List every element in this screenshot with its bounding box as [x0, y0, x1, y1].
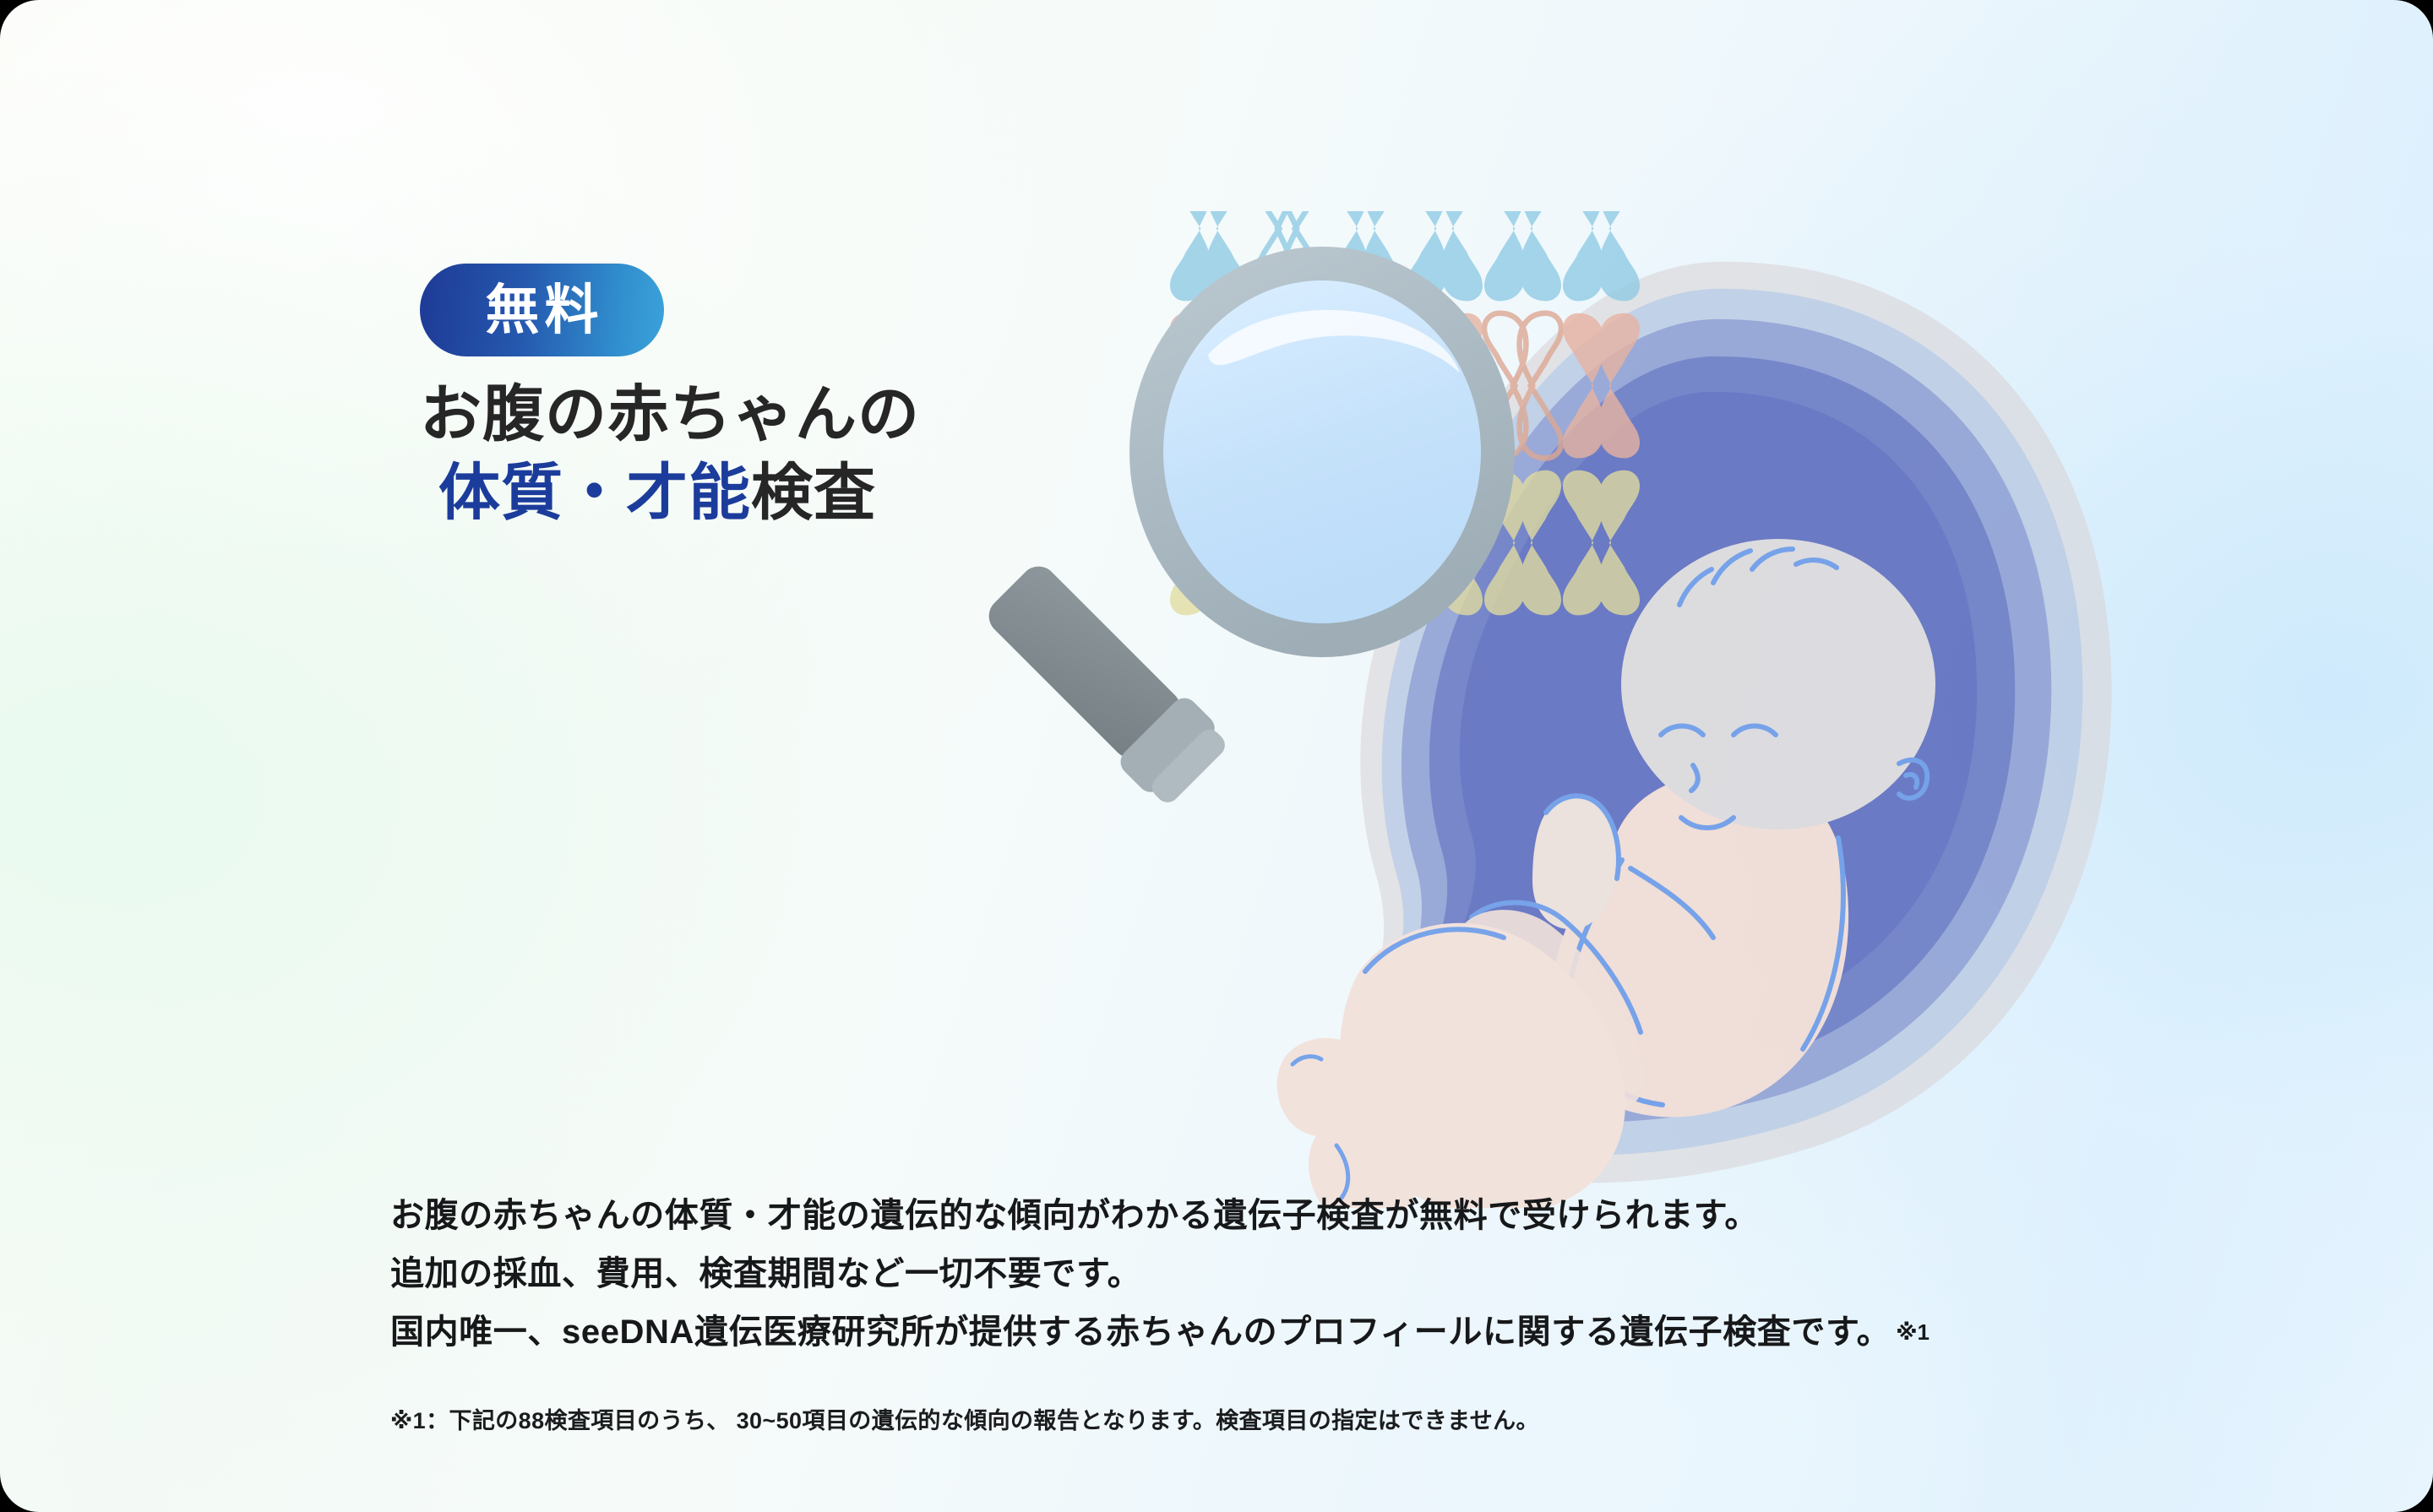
- body-line-3: 国内唯一、seeDNA遺伝医療研究所が提供する赤ちゃんのプロフィールに関する遺伝…: [390, 1303, 2190, 1362]
- womb-layer-3: [1391, 319, 2051, 1122]
- womb-layer-2: [1369, 289, 2083, 1155]
- baby-foot-1: [1277, 1038, 1378, 1137]
- body-line-3-text: 国内唯一、seeDNA遺伝医療研究所が提供する赤ちゃんのプロフィールに関する遺伝…: [390, 1313, 1891, 1351]
- headline-line-1: お腹の赤ちゃんの: [420, 375, 1062, 454]
- body-copy: お腹の赤ちゃんの体質・才能の遺伝的な傾向がわかる遺伝子検査が無料で受けられます。…: [390, 1187, 2190, 1361]
- headline-accent: 体質・才能: [438, 459, 751, 527]
- baby-torso: [1550, 772, 1848, 1117]
- body-line-1: お腹の赤ちゃんの体質・才能の遺伝的な傾向がわかる遺伝子検査が無料で受けられます。: [390, 1187, 2190, 1245]
- baby-figure: [1277, 539, 1935, 1208]
- page-title: お腹の赤ちゃんの 体質・才能検査: [420, 375, 1062, 533]
- magnifier-handle: [982, 559, 1189, 766]
- body-line-2: 追加の採血、費用、検査期間など一切不要です。: [390, 1245, 2190, 1303]
- headline-block: 無料 お腹の赤ちゃんの 体質・才能検査: [420, 264, 1062, 533]
- baby-forearm: [1472, 902, 1641, 1032]
- magnifier-glare: [1208, 310, 1460, 373]
- baby-arm: [1532, 796, 1619, 929]
- baby-legs: [1340, 923, 1625, 1208]
- footnote: ※1：下記の88検査項目のうち、 30~50項目の遺伝的な傾向の報告となります。…: [390, 1402, 1539, 1435]
- chromosome-row-yellow: [1170, 470, 1640, 616]
- magnifier-collar: [1115, 693, 1220, 797]
- magnifier-ring: [1129, 247, 1515, 657]
- hero-card: 無料 お腹の赤ちゃんの 体質・才能検査 お腹の赤ちゃんの体質・才能の遺伝的な傾向…: [0, 0, 2433, 1512]
- illustration-svg: [955, 211, 2323, 1208]
- magnifier-collar-2: [1147, 725, 1230, 808]
- reference-mark: ※1: [1896, 1319, 1930, 1345]
- baby-body-outline: [1568, 838, 1843, 1105]
- chromosome-row-blue: [1170, 211, 1640, 301]
- fetus-in-womb-icon: [1277, 262, 2112, 1208]
- womb-layer-inner: [1451, 392, 1977, 1036]
- chromosome-row-salmon: [1170, 313, 1640, 459]
- womb-layer-outer: [1347, 262, 2112, 1183]
- chromosome-group: [1170, 211, 1640, 615]
- baby-hair: [1679, 549, 1837, 605]
- magnifier-lens: [1163, 280, 1481, 623]
- baby-face: [1661, 726, 1927, 829]
- baby-forearm-fill: [1456, 910, 1643, 1112]
- headline-line-2: 体質・才能検査: [420, 454, 1062, 532]
- hero-illustration: [955, 211, 2323, 1208]
- headline-rest: 検査: [751, 459, 876, 527]
- womb-layer-4: [1419, 356, 2015, 1082]
- free-badge: 無料: [420, 264, 664, 356]
- baby-head: [1621, 539, 1935, 829]
